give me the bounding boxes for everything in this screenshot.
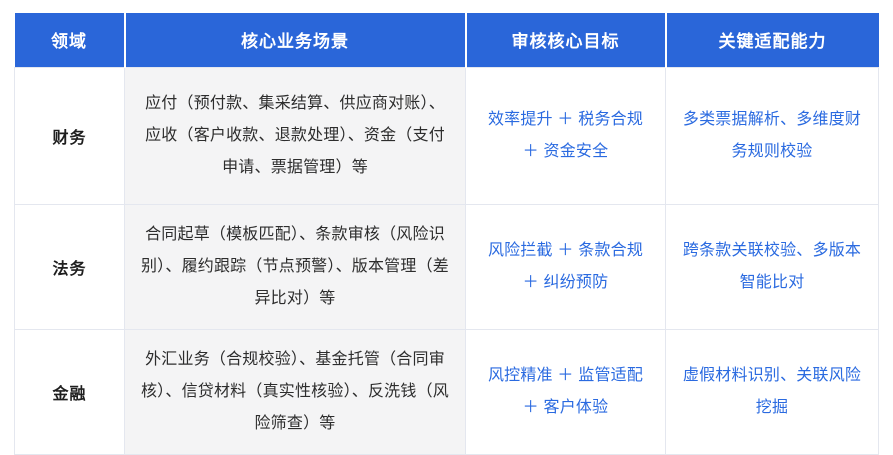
column-header-scenario: 核心业务场景 [125, 13, 466, 67]
comparison-table-container: 领域 核心业务场景 审核核心目标 关键适配能力 财务 应付（预付款、集采结算、供… [14, 13, 878, 455]
cell-ability: 跨条款关联校验、多版本智能比对 [666, 204, 879, 329]
cell-scenario: 应付（预付款、集采结算、供应商对账）、应收（客户收款、退款处理）、资金（支付申请… [125, 67, 466, 204]
column-header-ability: 关键适配能力 [666, 13, 879, 67]
domain-capability-table: 领域 核心业务场景 审核核心目标 关键适配能力 财务 应付（预付款、集采结算、供… [14, 13, 879, 455]
column-header-domain: 领域 [15, 13, 125, 67]
table-row: 财务 应付（预付款、集采结算、供应商对账）、应收（客户收款、退款处理）、资金（支… [15, 67, 879, 204]
cell-goal: 效率提升 ＋ 税务合规 ＋ 资金安全 [466, 67, 666, 204]
table-body: 财务 应付（预付款、集采结算、供应商对账）、应收（客户收款、退款处理）、资金（支… [15, 67, 879, 454]
column-header-goal: 审核核心目标 [466, 13, 666, 67]
cell-domain: 法务 [15, 204, 125, 329]
cell-domain: 财务 [15, 67, 125, 204]
cell-ability: 多类票据解析、多维度财务规则校验 [666, 67, 879, 204]
table-row: 法务 合同起草（模板匹配）、条款审核（风险识别）、履约跟踪（节点预警）、版本管理… [15, 204, 879, 329]
cell-goal: 风险拦截 ＋ 条款合规 ＋ 纠纷预防 [466, 204, 666, 329]
cell-domain: 金融 [15, 329, 125, 454]
cell-ability: 虚假材料识别、关联风险挖掘 [666, 329, 879, 454]
table-row: 金融 外汇业务（合规校验）、基金托管（合同审核）、信贷材料（真实性核验）、反洗钱… [15, 329, 879, 454]
cell-scenario: 外汇业务（合规校验）、基金托管（合同审核）、信贷材料（真实性核验）、反洗钱（风险… [125, 329, 466, 454]
cell-goal: 风控精准 ＋ 监管适配 ＋ 客户体验 [466, 329, 666, 454]
table-header-row: 领域 核心业务场景 审核核心目标 关键适配能力 [15, 13, 879, 67]
cell-scenario: 合同起草（模板匹配）、条款审核（风险识别）、履约跟踪（节点预警）、版本管理（差异… [125, 204, 466, 329]
table-header: 领域 核心业务场景 审核核心目标 关键适配能力 [15, 13, 879, 67]
